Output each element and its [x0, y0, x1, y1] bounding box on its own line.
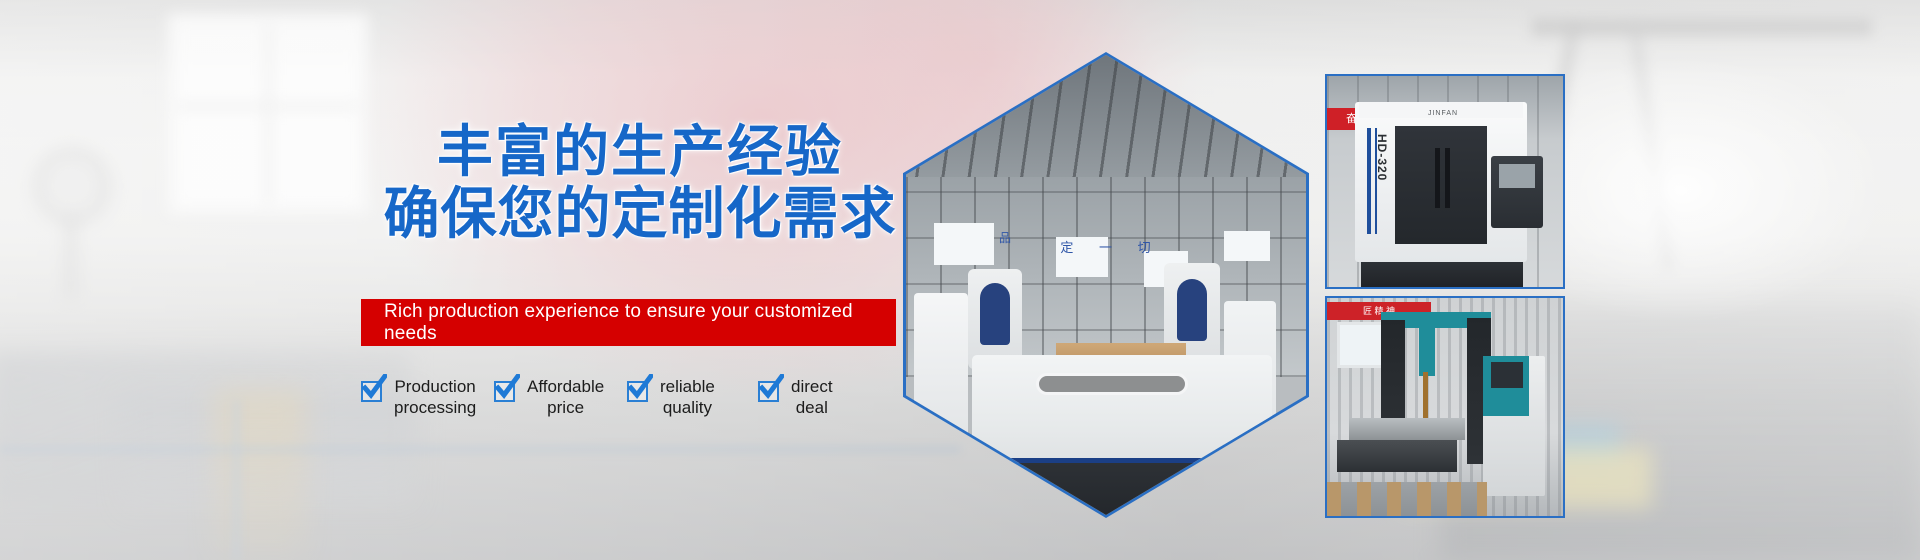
headline-line-2: 确保您的定制化需求 — [360, 184, 920, 246]
feature-label-line-2: processing — [394, 397, 476, 418]
headline-line-1: 丰富的生产经验 — [360, 122, 920, 184]
boring-work-table — [1349, 418, 1465, 440]
feature-item-direct-deal[interactable]: direct deal — [758, 374, 833, 418]
side-photo-cnc-machining-center: 奋力 JINFAN HD-320 — [1325, 74, 1565, 289]
checkbox-checked-icon — [758, 381, 780, 403]
workshop-window — [934, 223, 994, 265]
feature-label-line-1: Production — [394, 376, 476, 397]
checkbox-checked-icon — [627, 381, 649, 403]
feature-label-line-2: deal — [791, 397, 833, 418]
cnc-brand-text: JINFAN — [1413, 110, 1473, 120]
workshop-window — [1224, 231, 1270, 261]
boring-wooden-pallet — [1327, 482, 1487, 518]
feature-label: Affordable price — [527, 374, 604, 418]
check-mark-icon — [759, 374, 784, 400]
check-mark-icon — [495, 374, 520, 400]
boring-ram — [1419, 312, 1435, 376]
machine-viewport — [1036, 373, 1188, 395]
feature-label: Production processing — [394, 374, 476, 418]
checkbox-checked-icon — [361, 381, 383, 403]
boring-machine-bed — [1337, 440, 1457, 472]
feature-label: direct deal — [791, 374, 833, 418]
feature-label-line-1: reliable — [660, 376, 715, 397]
feature-item-reliable-quality[interactable]: reliable quality — [627, 374, 715, 418]
cnc-machine-door — [1395, 126, 1487, 244]
feature-label-line-1: direct — [791, 376, 833, 397]
side-photo-boring-machine: 匠 精 神 — [1325, 296, 1565, 518]
check-mark-icon — [628, 374, 653, 400]
feature-label-line-2: price — [527, 397, 604, 418]
wall-sign-small: 品 — [990, 229, 1020, 247]
cnc-control-screen — [1499, 164, 1535, 188]
subtitle-bar: Rich production experience to ensure you… — [361, 299, 896, 346]
feature-label-line-1: Affordable — [527, 376, 604, 397]
feature-label-line-2: quality — [660, 397, 715, 418]
hero-banner: 丰富的生产经验 确保您的定制化需求 Rich production experi… — [0, 0, 1920, 560]
feature-item-production-processing[interactable]: Production processing — [361, 374, 476, 418]
wall-sign: 定 一 切 — [1056, 237, 1166, 259]
feature-item-affordable-price[interactable]: Affordable price — [494, 374, 604, 418]
subtitle-text: Rich production experience to ensure you… — [361, 301, 896, 345]
checkbox-checked-icon — [494, 381, 516, 403]
cnc-machine-plinth — [1361, 262, 1523, 289]
machine-head-left — [968, 269, 1022, 369]
check-mark-icon — [362, 374, 387, 400]
feature-label: reliable quality — [660, 374, 715, 418]
boring-control-screen — [1491, 362, 1523, 388]
feature-list: Production processing Affordable price — [361, 374, 901, 428]
cnc-model-label: HD-320 — [1363, 134, 1389, 196]
hero-headline: 丰富的生产经验 确保您的定制化需求 — [360, 122, 920, 246]
